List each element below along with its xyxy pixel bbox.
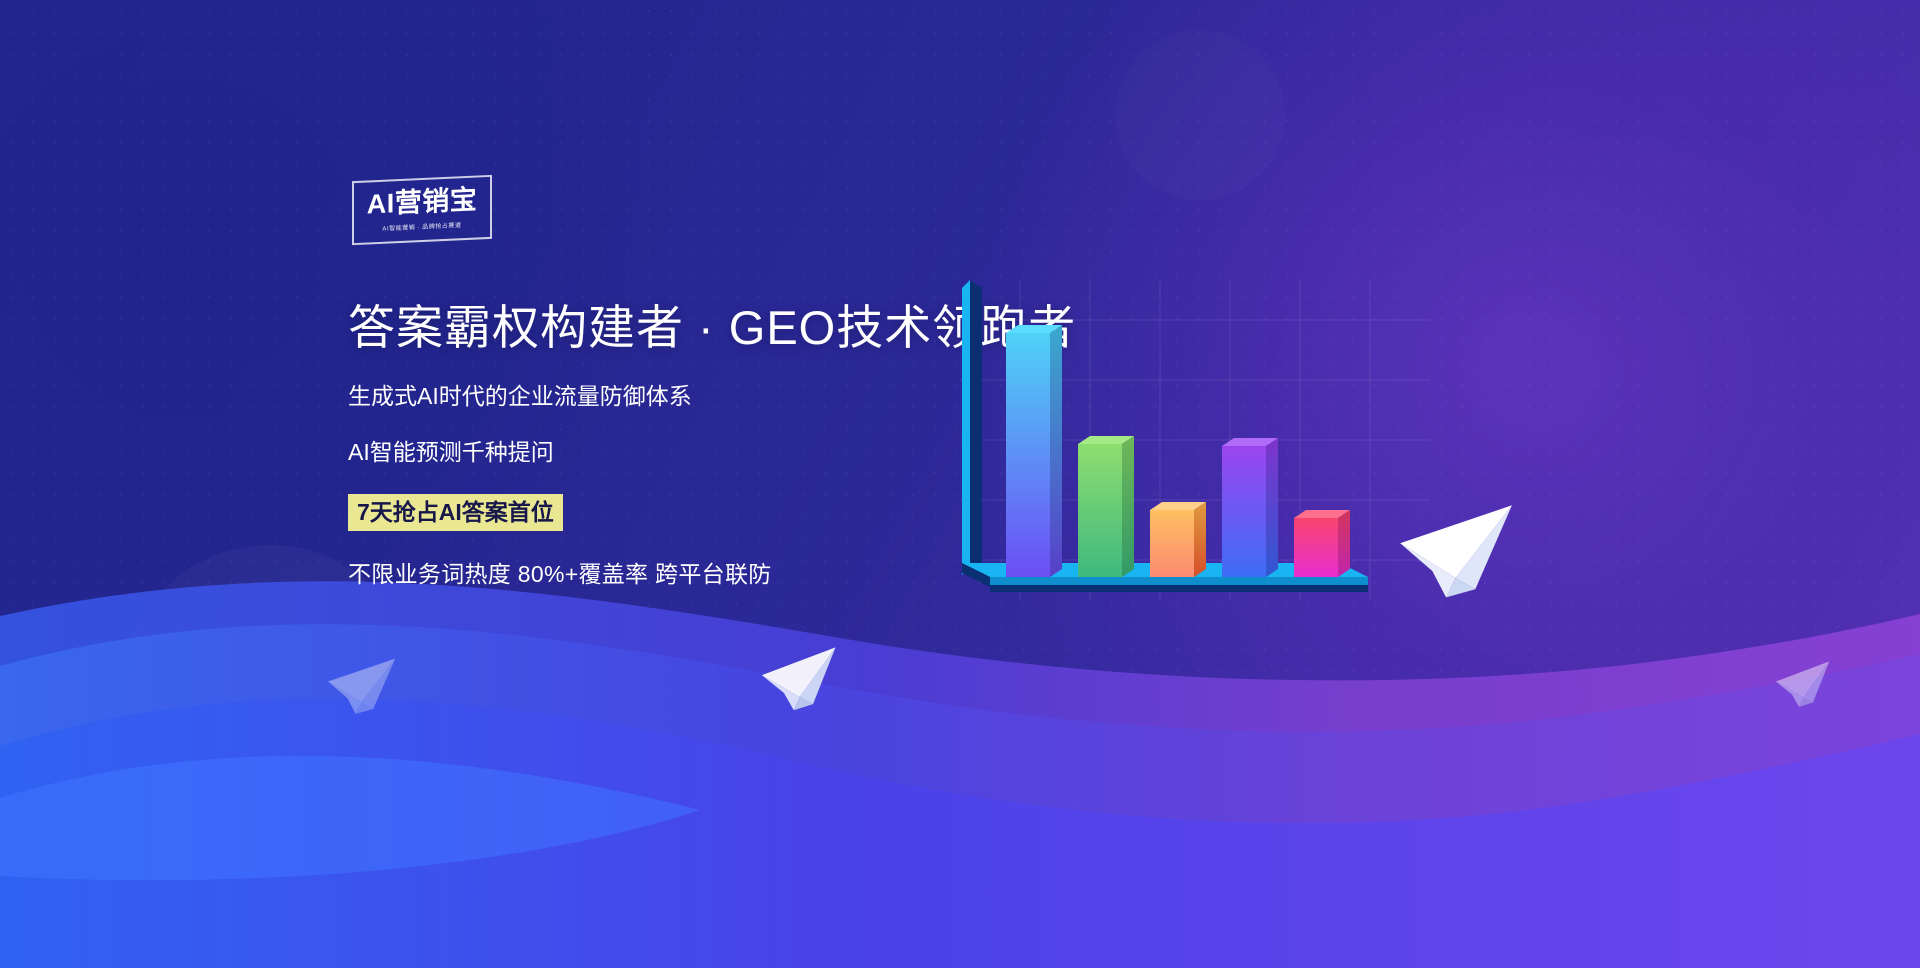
logo-text-group: AI营销宝 AI智能营销 · 品牌抢占赛道 [352, 175, 492, 245]
chart-y-axis [962, 280, 982, 575]
bar-chart-illustration [960, 280, 1430, 670]
hero-highlight-badge: 7天抢占AI答案首位 [348, 494, 563, 531]
hero-banner: AI营销宝 AI智能营销 · 品牌抢占赛道 答案霸权构建者 · GEO技术领跑者… [0, 0, 1920, 968]
brand-logo[interactable]: AI营销宝 AI智能营销 · 品牌抢占赛道 [352, 178, 492, 242]
hero-highlight-row: 7天抢占AI答案首位 [348, 494, 563, 531]
chart-bar-5 [1294, 510, 1350, 577]
logo-tagline: AI智能营销 · 品牌抢占赛道 [382, 220, 461, 233]
bar-chart-svg [960, 280, 1430, 670]
logo-wordmark: AI营销宝 [367, 186, 478, 218]
chart-bar-4 [1222, 438, 1278, 577]
chart-bar-2 [1078, 436, 1134, 577]
chart-bar-1 [1006, 325, 1062, 577]
chart-bar-3 [1150, 502, 1206, 577]
